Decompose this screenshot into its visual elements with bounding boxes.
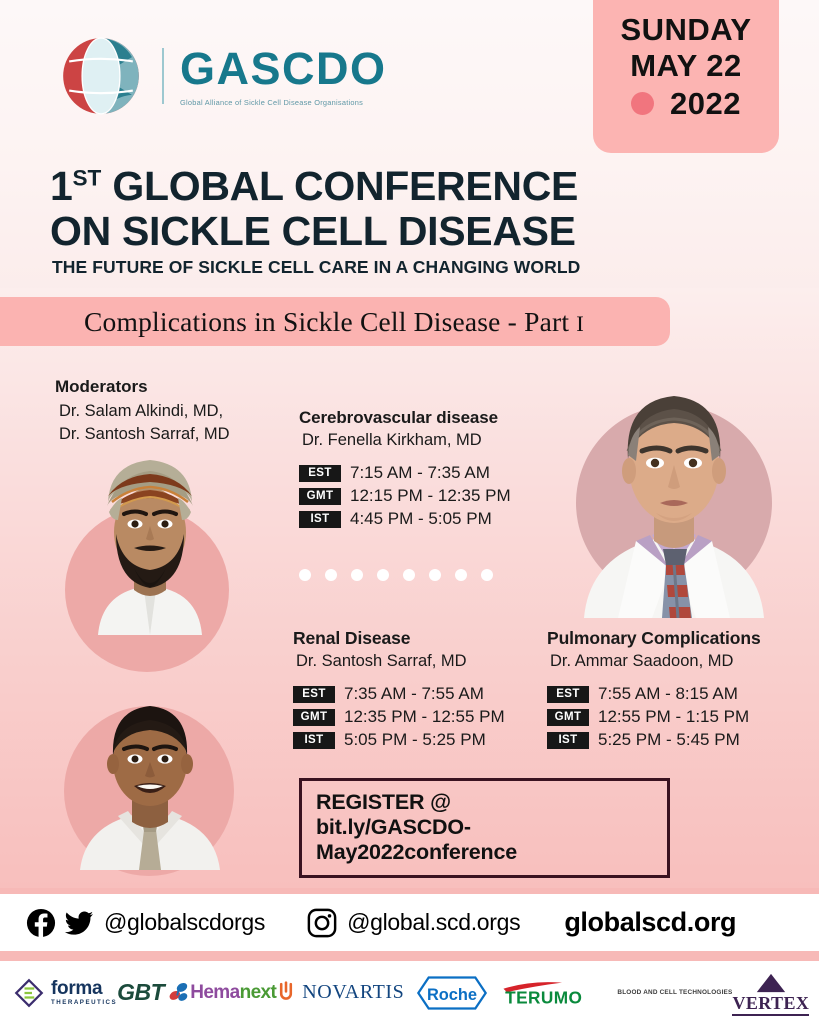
sponsor-name: NOVARTIS [302, 981, 404, 1004]
logo-tagline: Global Alliance of Sickle Cell Disease O… [180, 98, 387, 107]
moderator-2-portrait [58, 680, 244, 870]
moderator-2-photo [58, 680, 244, 870]
timezone-badge-gmt: GMT [299, 488, 341, 505]
talk-title: Renal Disease [293, 628, 505, 649]
hemanext-part-b: next [240, 982, 277, 1003]
date-month-day: MAY 22 [593, 48, 779, 84]
time-value: 5:05 PM - 5:25 PM [344, 730, 486, 750]
instagram-icon[interactable] [307, 908, 337, 938]
date-year: 2022 [670, 86, 741, 122]
social-group-primary: @globalscdorgs [26, 908, 265, 938]
svg-text:TERUMO: TERUMO [506, 987, 583, 1006]
session-part-number: I [576, 311, 584, 336]
time-row: IST 4:45 PM - 5:05 PM [299, 509, 511, 529]
date-year-row: 2022 [593, 86, 779, 122]
sponsor-roche: Roche [404, 974, 500, 1012]
forma-logo-icon [14, 978, 44, 1008]
time-row: EST 7:15 AM - 7:35 AM [299, 463, 511, 483]
sponsor-bar: forma THERAPEUTICS GBT Hemanext NOVARTIS [0, 961, 819, 1024]
time-value: 7:35 AM - 7:55 AM [344, 684, 484, 704]
sponsor-name: Hemanext [190, 982, 276, 1004]
moderators-heading: Moderators [55, 377, 230, 397]
sponsor-gbt: GBT [117, 979, 190, 1006]
session-title-main: Complications in Sickle Cell Disease - P [84, 306, 540, 337]
facebook-icon[interactable] [26, 908, 56, 938]
sponsor-name: VERTEX [732, 993, 809, 1016]
logo-text-block: GASCDO Global Alliance of Sickle Cell Di… [180, 46, 387, 107]
speaker-portrait [566, 363, 788, 618]
website-url[interactable]: globalscd.org [564, 907, 736, 938]
talk-cerebrovascular-disease: Cerebrovascular disease Dr. Fenella Kirk… [299, 408, 511, 532]
terumo-logo-icon: TERUMO [500, 980, 612, 1006]
talk-times: EST 7:35 AM - 7:55 AM GMT 12:35 PM - 12:… [293, 684, 505, 750]
divider-dot [377, 569, 389, 581]
forma-text-block: forma THERAPEUTICS [51, 979, 117, 1006]
social-group-instagram: @global.scd.orgs [307, 908, 520, 938]
talk-speaker: Dr. Fenella Kirkham, MD [299, 431, 511, 450]
time-value: 12:15 PM - 12:35 PM [350, 486, 511, 506]
register-box[interactable]: REGISTER @ bit.ly/GASCDO-May2022conferen… [299, 778, 670, 878]
talk-renal-disease: Renal Disease Dr. Santosh Sarraf, MD EST… [293, 628, 505, 753]
timezone-badge-gmt: GMT [293, 709, 335, 726]
time-value: 12:35 PM - 12:55 PM [344, 707, 505, 727]
session-title-smallcaps: art [540, 306, 570, 337]
social-handle-instagram: @global.scd.orgs [347, 909, 520, 936]
divider-rule-bottom [0, 951, 819, 961]
moderator-1-photo [60, 440, 240, 635]
date-day: SUNDAY [593, 12, 779, 48]
time-row: IST 5:25 PM - 5:45 PM [547, 730, 761, 750]
time-row: GMT 12:35 PM - 12:55 PM [293, 707, 505, 727]
sponsor-terumo: TERUMO BLOOD AND CELL TECHNOLOGIES [500, 980, 732, 1006]
logo-wordmark: GASCDO [180, 46, 387, 91]
time-value: 12:55 PM - 1:15 PM [598, 707, 749, 727]
globe-logo-icon [58, 33, 144, 119]
sponsor-subtitle: BLOOD AND CELL TECHNOLOGIES [617, 989, 732, 997]
timezone-badge-est: EST [299, 465, 341, 482]
talk-speaker: Dr. Ammar Saadoon, MD [547, 652, 761, 671]
sponsor-hemanext: Hemanext [190, 982, 276, 1004]
moderator-1-portrait [60, 440, 240, 635]
roche-logo-icon: Roche [404, 974, 500, 1012]
time-row: EST 7:55 AM - 8:15 AM [547, 684, 761, 704]
gbt-logo-icon [166, 981, 190, 1005]
session-banner: Complications in Sickle Cell Disease - P… [0, 297, 670, 346]
time-row: GMT 12:55 PM - 1:15 PM [547, 707, 761, 727]
title-line2: ON SICKLE CELL DISEASE [50, 209, 650, 254]
divider-dot [351, 569, 363, 581]
time-value: 5:25 PM - 5:45 PM [598, 730, 740, 750]
sponsor-forma-therapeutics: forma THERAPEUTICS [14, 978, 117, 1008]
divider-dot [325, 569, 337, 581]
time-value: 7:55 AM - 8:15 AM [598, 684, 738, 704]
talk-title: Cerebrovascular disease [299, 408, 511, 428]
timezone-badge-ist: IST [293, 732, 335, 749]
vertex-logo-icon [754, 973, 788, 993]
sponsor-name: forma [51, 979, 117, 998]
talk-pulmonary-complications: Pulmonary Complications Dr. Ammar Saadoo… [547, 628, 761, 753]
title-line1-rest: GLOBAL CONFERENCE [101, 163, 578, 209]
dot-divider [299, 569, 493, 581]
blood-drop-dot-icon [631, 92, 654, 115]
title-ordinal-suffix: ST [73, 165, 102, 190]
twitter-icon[interactable] [64, 908, 94, 938]
talk-speaker: Dr. Santosh Sarraf, MD [293, 652, 505, 671]
speaker-photo [566, 363, 788, 618]
time-row: IST 5:05 PM - 5:25 PM [293, 730, 505, 750]
register-url[interactable]: bit.ly/GASCDO-May2022conference [316, 815, 667, 865]
sponsor-novartis: NOVARTIS [276, 981, 404, 1005]
sponsor-vertex: VERTEX [732, 973, 809, 1013]
title-ordinal: 1 [50, 163, 73, 209]
logo-divider [162, 48, 164, 104]
page-subtitle: THE FUTURE OF SICKLE CELL CARE IN A CHAN… [52, 257, 580, 278]
timezone-badge-est: EST [547, 686, 589, 703]
sponsor-name: GBT [117, 979, 164, 1006]
page-title: 1ST GLOBAL CONFERENCE ON SICKLE CELL DIS… [50, 164, 650, 254]
talk-times: EST 7:55 AM - 8:15 AM GMT 12:55 PM - 1:1… [547, 684, 761, 750]
divider-dot [481, 569, 493, 581]
time-row: GMT 12:15 PM - 12:35 PM [299, 486, 511, 506]
session-title: Complications in Sickle Cell Disease - P… [66, 306, 584, 338]
sponsor-subtitle: THERAPEUTICS [51, 1000, 117, 1006]
talk-times: EST 7:15 AM - 7:35 AM GMT 12:15 PM - 12:… [299, 463, 511, 529]
time-row: EST 7:35 AM - 7:55 AM [293, 684, 505, 704]
talk-title: Pulmonary Complications [547, 628, 761, 649]
novartis-logo-icon [276, 981, 296, 1005]
timezone-badge-ist: IST [299, 511, 341, 528]
timezone-badge-ist: IST [547, 732, 589, 749]
timezone-badge-est: EST [293, 686, 335, 703]
divider-dot [455, 569, 467, 581]
time-value: 7:15 AM - 7:35 AM [350, 463, 490, 483]
social-handle-primary: @globalscdorgs [104, 909, 265, 936]
time-value: 4:45 PM - 5:05 PM [350, 509, 492, 529]
conference-poster: GASCDO Global Alliance of Sickle Cell Di… [0, 0, 819, 1024]
social-bar: @globalscdorgs @global.scd.orgs globalsc… [0, 894, 819, 951]
divider-dot [429, 569, 441, 581]
divider-dot [299, 569, 311, 581]
moderator-name: Dr. Salam Alkindi, MD, [55, 400, 230, 423]
date-badge: SUNDAY MAY 22 2022 [593, 0, 779, 153]
register-label: REGISTER @ [316, 790, 667, 815]
svg-text:Roche: Roche [427, 985, 477, 1003]
timezone-badge-gmt: GMT [547, 709, 589, 726]
moderators-block: Moderators Dr. Salam Alkindi, MD, Dr. Sa… [55, 377, 230, 447]
hemanext-part-a: Hema [190, 982, 239, 1003]
gascdo-logo[interactable]: GASCDO Global Alliance of Sickle Cell Di… [58, 33, 387, 119]
divider-dot [403, 569, 415, 581]
